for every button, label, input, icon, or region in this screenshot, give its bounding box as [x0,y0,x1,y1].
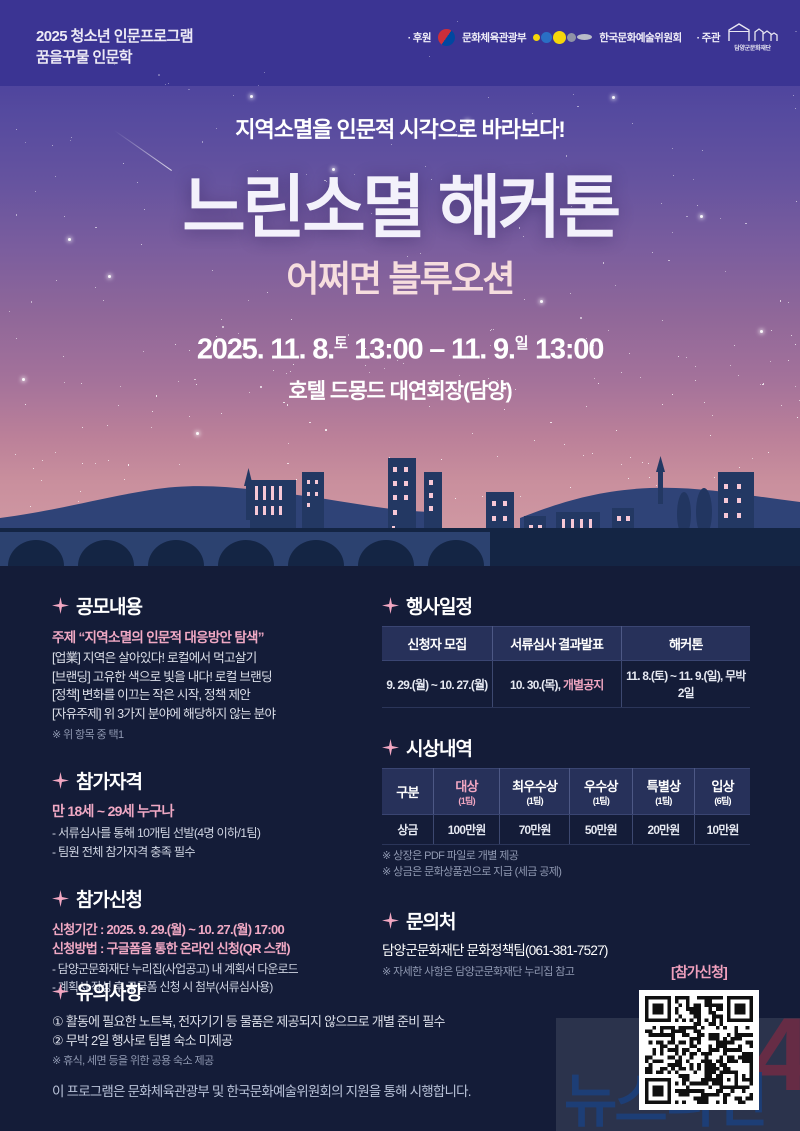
awards-prize-excellence: 70만원 [500,815,570,845]
apply-heading: 참가신청 [76,885,142,912]
awards-table: 구분 대상 (1팀) 최우수상 (1팀) 우수상 (1팀) [382,768,750,845]
eligibility-heading-row: 참가자격 [52,767,372,794]
contest-item-1: [브랜딩] 고유한 색으로 빛을 내다! 로컬 브랜딩 [52,668,372,687]
awards-header-row: 구분 대상 (1팀) 최우수상 (1팀) 우수상 (1팀) [382,769,750,815]
awards-col-special: 특별상 (1팀) [632,769,695,815]
schedule-result-highlight: 개별공지 [563,678,604,692]
sparkle-icon [52,597,69,614]
awards-prize-special: 20만원 [632,815,695,845]
schedule-col-recruit: 신청자 모집 [382,627,492,661]
awards-col-excellence: 최우수상 (1팀) [500,769,570,815]
notice-heading: 유의사항 [76,978,142,1005]
apply-item-0: - 담양군문화재단 누리집(사업공고) 내 계획서 다운로드 [52,961,372,979]
qr-label: [참가신청] [616,962,782,982]
section-contest: 공모내용 주제 “지역소멸의 인문적 대응방안 탐색” [업業] 지역은 살아있… [52,592,372,743]
awards-heading: 시상내역 [406,734,472,761]
hero-date-weekday-2: 일 [515,335,528,352]
hero-date-end: 13:00 [528,333,603,365]
awards-col-grand: 대상 (1팀) [434,769,500,815]
notice-note: ※ 휴식, 세면 등을 위한 공용 숙소 제공 [52,1054,612,1070]
hero-block: 지역소멸을 인문적 시각으로 바라보다! 느린소멸 해커톤 어쩌면 블루오션 2… [0,0,800,405]
sparkle-icon [382,597,399,614]
schedule-heading-row: 행사일정 [382,592,750,619]
awards-note-1: ※ 상금은 문화상품권으로 지급 (세금 공제) [382,865,750,881]
awards-col-good: 우수상 (1팀) [570,769,633,815]
apply-heading-row: 참가신청 [52,885,372,912]
eligibility-item-0: - 서류심사를 통해 10개팀 선발(4명 이하/1팀) [52,824,372,842]
hero-tagline: 지역소멸을 인문적 시각으로 바라보다! [0,112,800,144]
sparkle-icon [382,912,399,929]
section-eligibility: 참가자격 만 18세 ~ 29세 누구나 - 서류심사를 통해 10개팀 선발(… [52,767,372,861]
contact-line: 담양군문화재단 문화정책팀(061-381-7527) [382,941,750,961]
schedule-col-hackathon: 해커톤 [621,627,750,661]
left-column: 공모내용 주제 “지역소멸의 인문적 대응방안 탐색” [업業] 지역은 살아있… [52,592,372,998]
hero-date: 2025. 11. 8.토 13:00 – 11. 9.일 13:00 [0,332,800,367]
table-row: 상금 100만원 70만원 50만원 20만원 10만원 [382,815,750,845]
schedule-header-row: 신청자 모집 서류심사 결과발표 해커톤 [382,627,750,661]
schedule-table: 신청자 모집 서류심사 결과발표 해커톤 9. 29.(월) ~ 10. 27.… [382,626,750,708]
awards-col-label: 구분 [382,769,434,815]
hero-date-main: 2025. 11. 8. [197,333,334,365]
footer-support-note: 이 프로그램은 문화체육관광부 및 한국문화예술위원회의 지원을 통해 시행합니… [52,1080,471,1100]
awards-row-label: 상금 [382,815,434,845]
awards-note-0: ※ 상장은 PDF 파일로 개별 제공 [382,849,750,865]
sparkle-icon [52,890,69,907]
schedule-heading: 행사일정 [406,592,472,619]
contest-item-3: [자유주제] 위 3가지 분야에 해당하지 않는 분야 [52,705,372,724]
contest-heading: 공모내용 [76,592,142,619]
awards-prize-entry: 10만원 [695,815,750,845]
awards-prize-grand: 100만원 [434,815,500,845]
hero-title: 느린소멸 해커톤 [0,172,800,244]
contest-note: ※ 위 항목 중 택1 [52,728,372,744]
schedule-val-hackathon: 11. 8.(토) ~ 11. 9.(일), 무박 2일 [621,661,750,708]
table-row: 9. 29.(월) ~ 10. 27.(월) 10. 30.(목), 개별공지 … [382,661,750,708]
schedule-result-date: 10. 30.(목), [510,678,563,692]
schedule-col-result: 서류심사 결과발표 [492,627,621,661]
section-notice: 유의사항 ① 활동에 필요한 노트북, 전자기기 등 물품은 제공되지 않으므로… [52,978,612,1070]
schedule-val-recruit: 9. 29.(월) ~ 10. 27.(월) [382,661,492,708]
apply-method: 신청방법 : 구글폼을 통한 온라인 신청(QR 스캔) [52,938,372,957]
right-column: 행사일정 신청자 모집 서류심사 결과발표 해커톤 9. 29.(월) ~ 10… [382,592,750,983]
contact-heading-row: 문의처 [382,907,750,934]
hero-date-mid: 13:00 – 11. 9. [347,333,514,365]
qr-code[interactable] [639,990,759,1110]
section-schedule: 행사일정 신청자 모집 서류심사 결과발표 해커톤 9. 29.(월) ~ 10… [382,592,750,708]
eligibility-item-1: - 팀원 전체 참가자격 충족 필수 [52,843,372,861]
notice-item-0: ① 활동에 필요한 노트북, 전자기기 등 물품은 제공되지 않으므로 개별 준… [52,1012,612,1031]
qr-code-image [645,996,753,1104]
eligibility-main: 만 18세 ~ 29세 누구나 [52,801,372,821]
qr-application-block[interactable]: [참가신청] [616,962,782,1110]
contest-topic: 주제 “지역소멸의 인문적 대응방안 탐색” [52,626,372,646]
hero-venue: 호텔 드몽드 대연회장(담양) [0,375,800,405]
contest-heading-row: 공모내용 [52,592,372,619]
hero-subtitle: 어쩌면 블루오션 [0,250,800,302]
awards-prize-good: 50만원 [570,815,633,845]
notice-item-1: ② 무박 2일 행사로 팀별 숙소 미제공 [52,1031,612,1050]
awards-col-entry: 입상 (6팀) [695,769,750,815]
sparkle-icon [52,772,69,789]
awards-heading-row: 시상내역 [382,734,750,761]
poster-root: 2025 청소년 인문프로그램 꿈을꾸물 인문학 후원 문화체육관광부 한국문화… [0,0,800,1131]
eligibility-heading: 참가자격 [76,767,142,794]
hero-date-weekday-1: 토 [334,335,347,352]
apply-period: 신청기간 : 2025. 9. 29.(월) ~ 10. 27.(월) 17:0… [52,919,372,938]
schedule-val-result: 10. 30.(목), 개별공지 [492,661,621,708]
contact-heading: 문의처 [406,907,455,934]
sparkle-icon [382,739,399,756]
contest-item-2: [정책] 변화를 이끄는 작은 시작, 정책 제안 [52,686,372,705]
section-awards: 시상내역 구분 대상 (1팀) 최우수상 (1팀) [382,734,750,881]
sparkle-icon [52,983,69,1000]
contest-item-0: [업業] 지역은 살아있다! 로컬에서 먹고살기 [52,649,372,668]
